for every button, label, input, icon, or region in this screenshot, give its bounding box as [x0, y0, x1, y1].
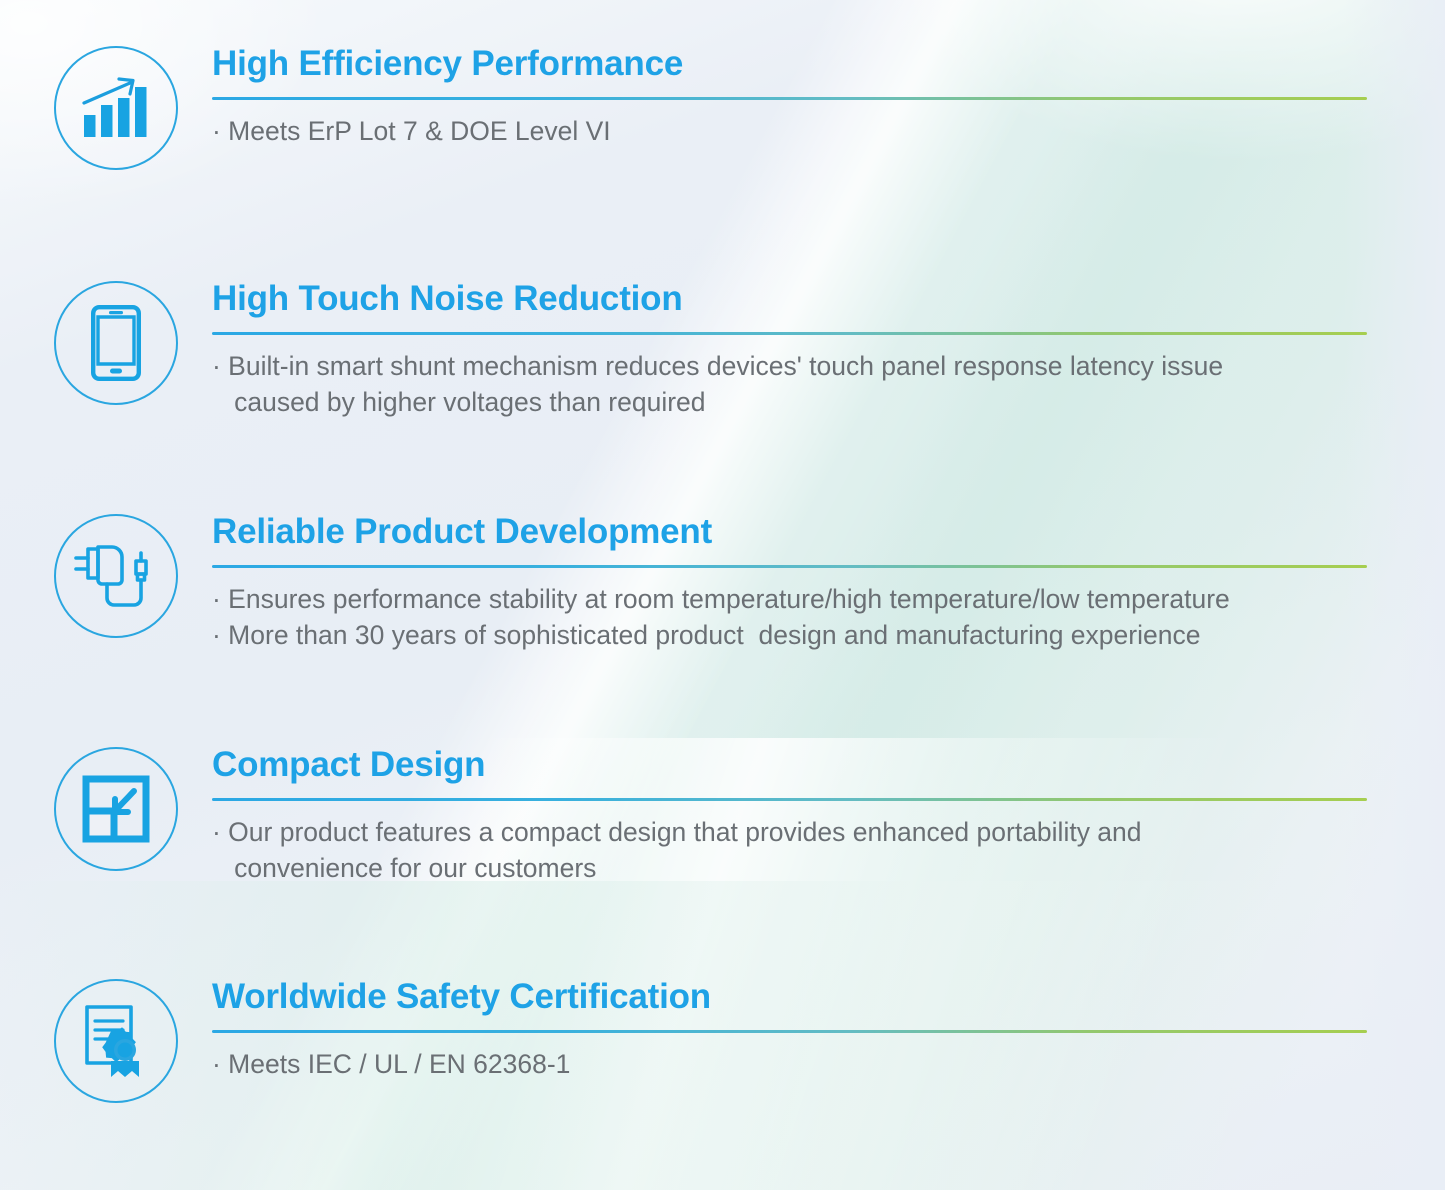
feature-bullet-line: · Built-in smart shunt mechanism reduces… — [212, 348, 1367, 385]
feature-title: High Efficiency Performance — [212, 46, 1367, 83]
feature-title: Reliable Product Development — [212, 514, 1367, 551]
feature-body: Reliable Product Development · Ensures p… — [212, 514, 1367, 654]
feature-body: Compact Design · Our product features a … — [212, 747, 1367, 887]
feature-title: Worldwide Safety Certification — [212, 979, 1367, 1016]
smartphone-icon — [54, 281, 178, 405]
feature-title: Compact Design — [212, 747, 1367, 784]
resize-compact-icon — [54, 747, 178, 871]
feature-body: High Touch Noise Reduction · Built-in sm… — [212, 281, 1367, 421]
feature-bullet-line: · Meets ErP Lot 7 & DOE Level VI — [212, 113, 1367, 150]
feature-item-high-touch-noise-reduction: High Touch Noise Reduction · Built-in sm… — [54, 281, 1367, 421]
feature-description: · Meets IEC / UL / EN 62368-1 — [212, 1046, 1367, 1083]
feature-description: · Built-in smart shunt mechanism reduces… — [212, 348, 1367, 421]
feature-item-reliable-product-development: Reliable Product Development · Ensures p… — [54, 514, 1367, 654]
certificate-award-icon — [54, 979, 178, 1103]
feature-title: High Touch Noise Reduction — [212, 281, 1367, 318]
feature-description: · Our product features a compact design … — [212, 814, 1367, 887]
feature-highlights-page: High Efficiency Performance · Meets ErP … — [0, 0, 1445, 1190]
feature-item-compact-design: Compact Design · Our product features a … — [54, 747, 1367, 887]
power-adapter-icon — [54, 514, 178, 638]
feature-bullet-line: · Meets IEC / UL / EN 62368-1 — [212, 1046, 1367, 1083]
feature-divider — [212, 97, 1367, 100]
feature-body: High Efficiency Performance · Meets ErP … — [212, 46, 1367, 149]
feature-bullet-line: convenience for our customers — [212, 850, 1367, 887]
feature-description: · Meets ErP Lot 7 & DOE Level VI — [212, 113, 1367, 150]
feature-description: · Ensures performance stability at room … — [212, 581, 1367, 654]
feature-divider — [212, 1030, 1367, 1033]
feature-divider — [212, 565, 1367, 568]
feature-bullet-line: · Ensures performance stability at room … — [212, 581, 1367, 618]
feature-divider — [212, 798, 1367, 801]
bar-chart-growth-icon — [54, 46, 178, 170]
feature-divider — [212, 332, 1367, 335]
feature-item-high-efficiency-performance: High Efficiency Performance · Meets ErP … — [54, 46, 1367, 170]
feature-body: Worldwide Safety Certification · Meets I… — [212, 979, 1367, 1082]
feature-bullet-line: caused by higher voltages than required — [212, 384, 1367, 421]
feature-item-worldwide-safety-certification: Worldwide Safety Certification · Meets I… — [54, 979, 1367, 1103]
feature-bullet-line: · Our product features a compact design … — [212, 814, 1367, 851]
feature-bullet-line: · More than 30 years of sophisticated pr… — [212, 617, 1367, 654]
